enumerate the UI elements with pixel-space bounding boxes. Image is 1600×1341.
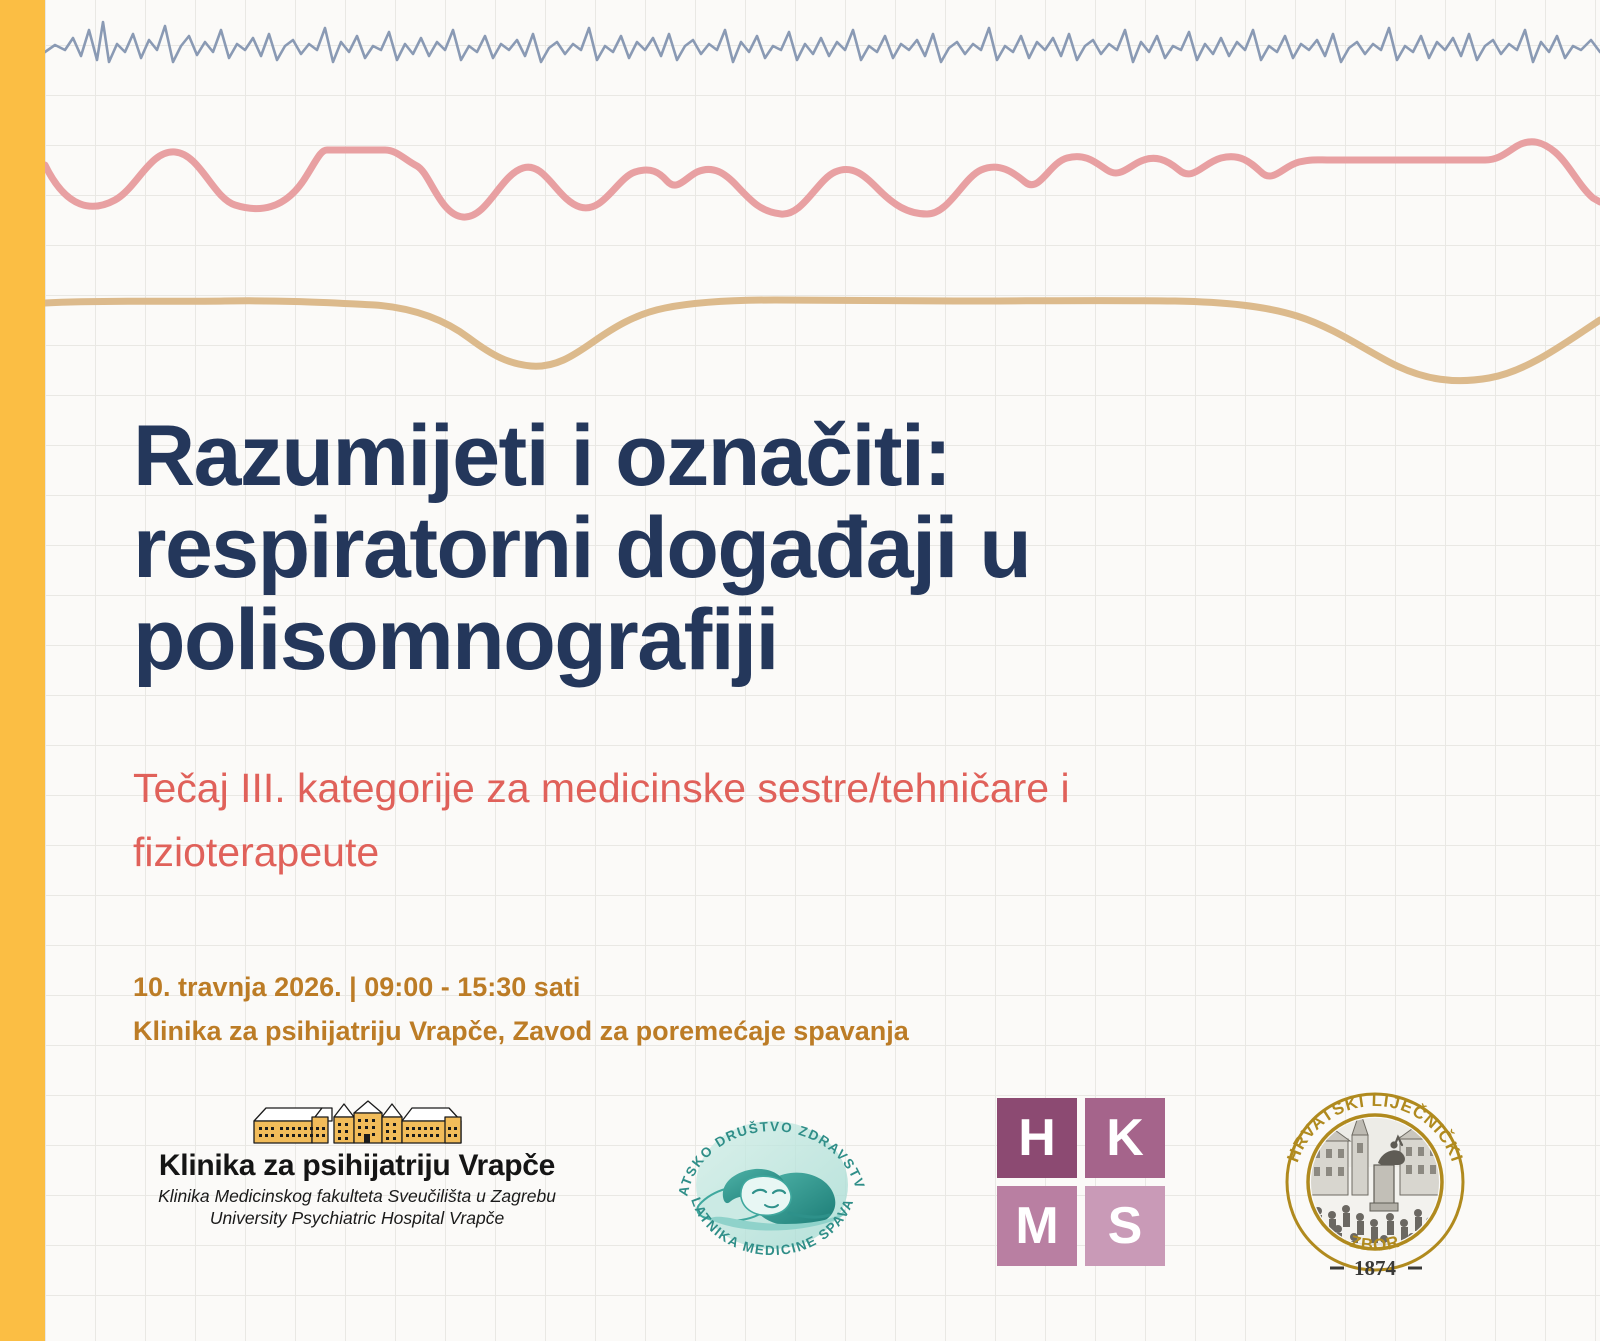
- vrapce-logo-subtitle-en: University Psychiatric Hospital Vrapče: [122, 1208, 592, 1229]
- logo-hkms: H K M S: [997, 1098, 1165, 1266]
- event-venue: Klinika za psihijatriju Vrapče, Zavod za…: [133, 1016, 909, 1047]
- hkms-tile-h: H: [997, 1098, 1077, 1178]
- hkms-tile-s: S: [1085, 1186, 1165, 1266]
- page-subtitle: Tečaj III. kategorije za medicinske sest…: [133, 757, 1263, 884]
- left-accent-bar: [0, 0, 45, 1341]
- hkms-tile-k: K: [1085, 1098, 1165, 1178]
- logo-hrvatski-lijecnicki-zbor: HRVATSKI LIJEČNIČKI ZBOR 1874: [1278, 1087, 1473, 1282]
- hkms-tile-m: M: [997, 1186, 1077, 1266]
- poster-content: Razumijeti i označiti: respiratorni doga…: [0, 0, 1600, 1341]
- hlz-year: 1874: [1354, 1256, 1397, 1280]
- vrapce-logo-name: Klinika za psihijatriju Vrapče: [122, 1149, 592, 1183]
- page-title: Razumijeti i označiti: respiratorni doga…: [133, 410, 1253, 686]
- face-shape: [741, 1176, 791, 1215]
- vrapce-logo-subtitle-hr: Klinika Medicinskog fakulteta Sveučilišt…: [122, 1186, 592, 1207]
- event-date-time: 10. travnja 2026. | 09:00 - 15:30 sati: [133, 972, 580, 1003]
- logo-klinika-vrapce: Klinika za psihijatriju Vrapče Klinika M…: [122, 1095, 592, 1229]
- logo-strip: Klinika za psihijatriju Vrapče Klinika M…: [0, 1085, 1600, 1285]
- logo-sleep-medicine-society: HRVATSKO DRUŠTVO ZDRAVSTVENIH DJELATNIKA…: [665, 1093, 880, 1273]
- hospital-building-icon: [250, 1095, 465, 1147]
- poster-canvas: Razumijeti i označiti: respiratorni doga…: [0, 0, 1600, 1341]
